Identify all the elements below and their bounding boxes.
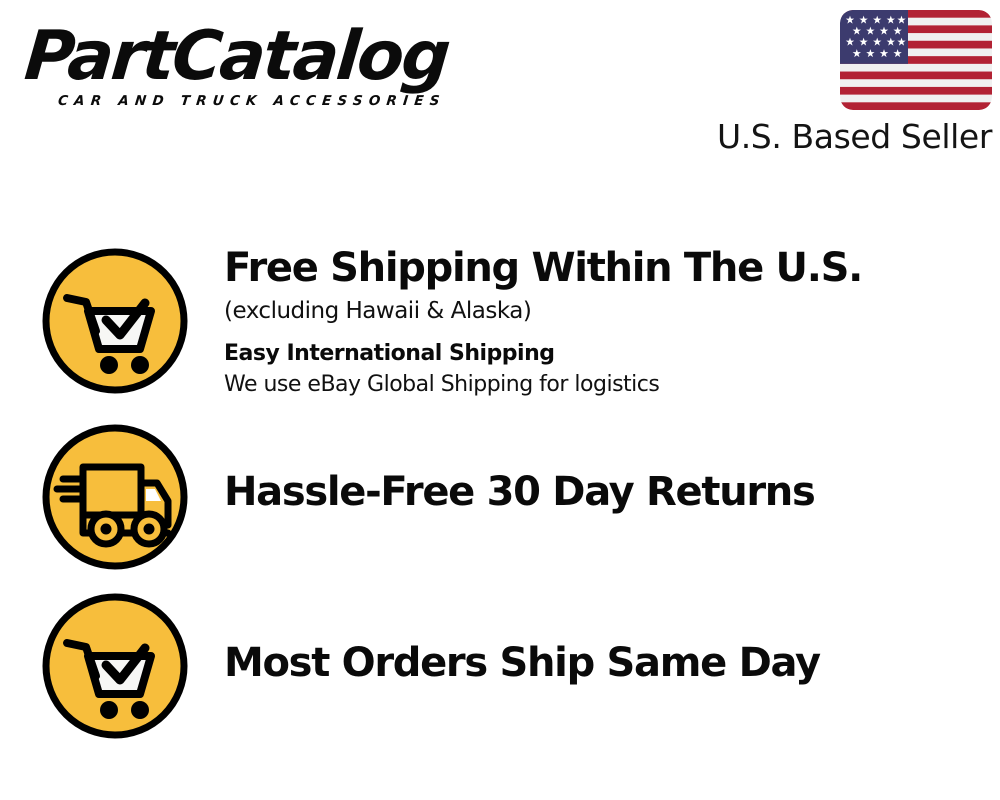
brand-wordmark: PartCatalog	[22, 22, 498, 92]
feature-text-block: Hassle-Free 30 Day Returns	[224, 419, 1000, 515]
feature-icon-container	[0, 245, 224, 397]
brand-tagline: CAR AND TRUCK ACCESSORIES	[57, 93, 493, 109]
shopping-cart-check-icon	[39, 245, 191, 397]
us-based-seller-badge: U.S. Based Seller	[710, 10, 992, 157]
feature-text-block: Most Orders Ship Same Day	[224, 590, 1000, 686]
feature-icon-container	[0, 419, 224, 573]
feature-title: Most Orders Ship Same Day	[224, 640, 1000, 686]
shopping-cart-check-icon	[39, 590, 191, 742]
feature-row-same-day-ship: Most Orders Ship Same Day	[0, 590, 1000, 742]
feature-row-free-shipping: Free Shipping Within The U.S. (excluding…	[0, 245, 1000, 399]
seller-badge-label: U.S. Based Seller	[710, 117, 992, 157]
feature-title: Free Shipping Within The U.S.	[224, 245, 1000, 291]
us-flag-icon	[840, 10, 992, 110]
feature-subtitle-strong: Easy International Shipping	[224, 340, 1000, 368]
delivery-truck-icon	[39, 421, 191, 573]
feature-subtitle: (excluding Hawaii & Alaska)	[224, 296, 1000, 326]
feature-row-returns: Hassle-Free 30 Day Returns	[0, 419, 1000, 573]
feature-title: Hassle-Free 30 Day Returns	[224, 469, 1000, 515]
feature-icon-container	[0, 590, 224, 742]
feature-subtitle-note: We use eBay Global Shipping for logistic…	[224, 370, 1000, 399]
brand-logo: PartCatalog CAR AND TRUCK ACCESSORIES	[22, 22, 492, 117]
feature-text-block: Free Shipping Within The U.S. (excluding…	[224, 245, 1000, 399]
